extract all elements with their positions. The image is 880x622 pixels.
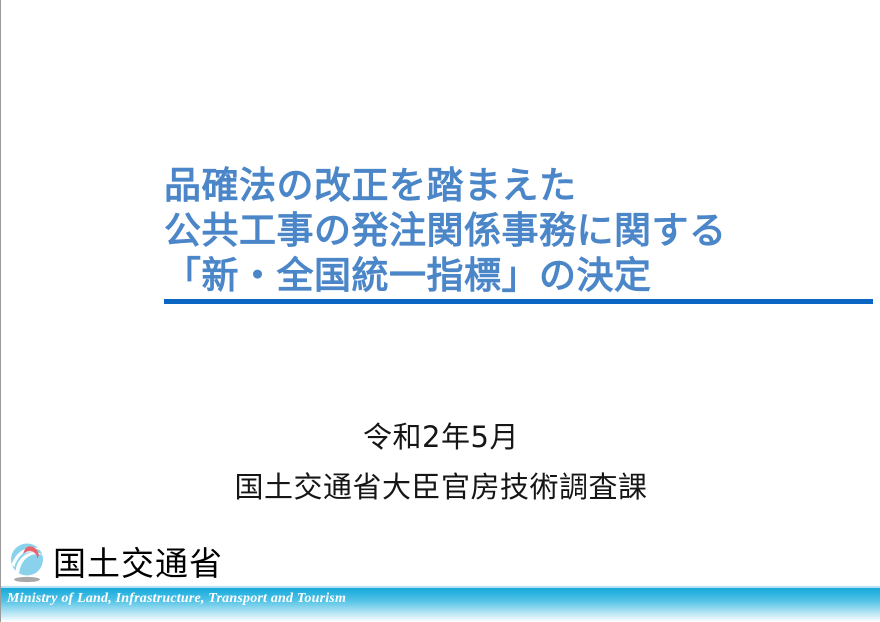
subtitle-block: 令和2年5月 国土交通省大臣官房技術調査課	[1, 412, 880, 512]
title-underline-rule	[164, 299, 873, 304]
ministry-logo: 国土交通省	[7, 540, 223, 586]
ministry-name-jp: 国土交通省	[53, 547, 223, 580]
subtitle-organization: 国土交通省大臣官房技術調査課	[1, 462, 880, 512]
title-slide: 品確法の改正を踏まえた 公共工事の発注関係事務に関する 「新・全国統一指標」の決…	[0, 0, 880, 622]
footer-gradient-bar: Ministry of Land, Infrastructure, Transp…	[1, 586, 880, 622]
title-line-1: 品確法の改正を踏まえた	[164, 163, 876, 208]
title-line-3: 「新・全国統一指標」の決定	[164, 253, 876, 298]
subtitle-date: 令和2年5月	[1, 412, 880, 462]
page-title: 品確法の改正を踏まえた 公共工事の発注関係事務に関する 「新・全国統一指標」の決…	[164, 163, 876, 298]
mlit-globe-emblem-icon	[7, 542, 47, 584]
ministry-name-en: Ministry of Land, Infrastructure, Transp…	[7, 591, 346, 607]
title-line-2: 公共工事の発注関係事務に関する	[164, 208, 876, 253]
footer-bar-top-highlight	[1, 586, 880, 588]
